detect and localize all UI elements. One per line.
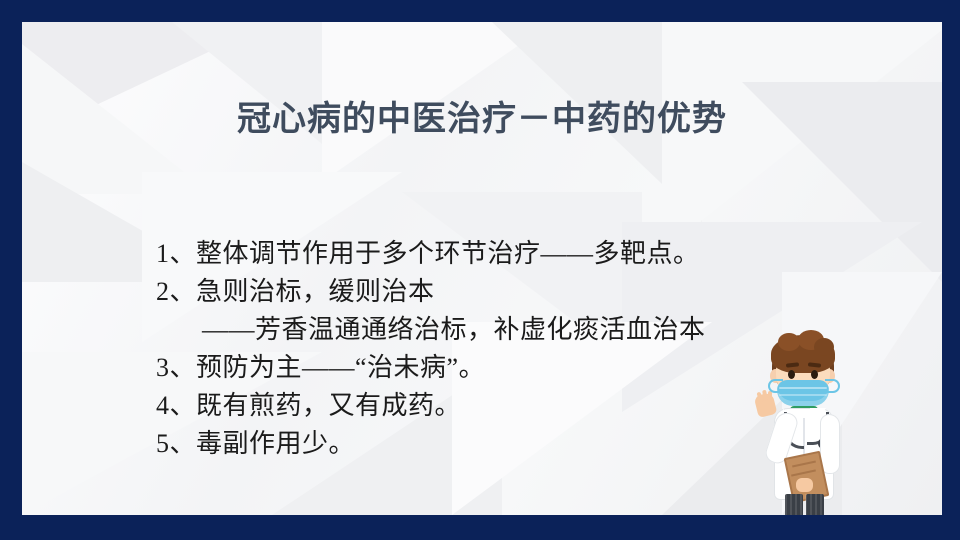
face-mask-fold-icon <box>779 387 827 389</box>
doctor-finger-icon <box>768 391 772 401</box>
doctor-hair-curl-icon <box>814 338 834 356</box>
list-item: 2、急则治标，缓则治本 <box>156 273 796 311</box>
doctor-illustration <box>748 322 878 515</box>
list-item: 3、预防为主——“治未病”。 <box>156 349 796 387</box>
page-title: 冠心病的中医治疗－中药的优势 <box>237 99 727 141</box>
face-mask-strap-left-icon <box>768 379 783 393</box>
list-item: 1、整体调节作用于多个环节治疗——多靶点。 <box>156 235 796 273</box>
doctor-hair-curl-icon <box>778 333 800 351</box>
list-item: ——芳香温通通络治标，补虚化痰活血治本 <box>156 311 796 349</box>
slide-canvas: 冠心病的中医治疗－中药的优势 1、整体调节作用于多个环节治疗——多靶点。 2、急… <box>22 22 942 515</box>
content-list: 1、整体调节作用于多个环节治疗——多靶点。 2、急则治标，缓则治本 ——芳香温通… <box>156 235 796 463</box>
list-item: 4、既有煎药，又有成药。 <box>156 387 796 425</box>
doctor-eye-right-icon <box>811 370 818 379</box>
doctor-eye-left-icon <box>788 370 795 379</box>
slide-root: 冠心病的中医治疗－中药的优势 1、整体调节作用于多个环节治疗——多靶点。 2、急… <box>0 0 960 540</box>
face-mask-strap-right-icon <box>825 379 840 393</box>
face-mask-icon <box>777 380 829 406</box>
title-block: 冠心病的中医治疗－中药的优势 <box>22 76 942 164</box>
list-item: 5、毒副作用少。 <box>156 425 796 463</box>
doctor-holding-hand-icon <box>796 478 813 492</box>
doctor-trouser-stripes-icon <box>785 494 824 515</box>
face-mask-fold-icon <box>779 394 827 396</box>
